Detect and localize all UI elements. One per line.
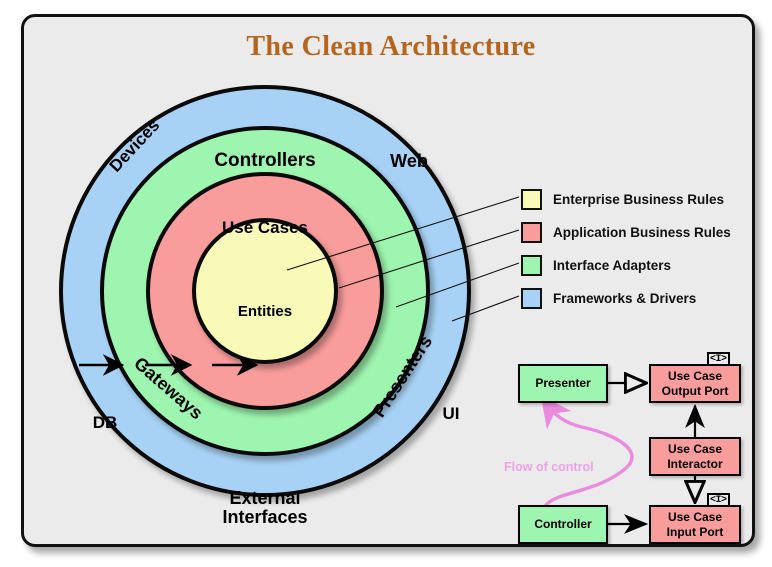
legend-item: Frameworks & Drivers (521, 282, 755, 315)
legend-label-interface-adapters: Interface Adapters (553, 258, 671, 273)
ring-label-external-interfaces-line1: External (175, 489, 355, 508)
legend-item: Enterprise Business Rules (521, 183, 755, 216)
legend-item: Interface Adapters (521, 249, 755, 282)
flow-box-controller-label: Controller (534, 517, 591, 531)
legend-swatch-interface-adapters (521, 255, 542, 276)
ring-label-ui: UI (424, 405, 478, 423)
flow-box-use-case-output-port: Use Case Output Port (649, 364, 741, 403)
output-port-line2: Output Port (662, 384, 729, 398)
ring-label-db: DB (78, 414, 132, 432)
flow-box-use-case-input-port-label: Use Case Input Port (667, 510, 724, 538)
legend-swatch-enterprise-business-rules (521, 189, 542, 210)
legend-label-application-business-rules: Application Business Rules (553, 225, 731, 240)
ring-label-external-interfaces: External Interfaces (175, 489, 355, 528)
ring-label-controllers: Controllers (174, 151, 356, 172)
page-title: The Clean Architecture (24, 31, 755, 63)
input-port-line2: Input Port (667, 525, 724, 539)
input-port-line1: Use Case (668, 510, 722, 524)
flow-of-control-label: Flow of control (504, 460, 594, 474)
flow-box-presenter: Presenter (518, 364, 608, 403)
legend-swatch-application-business-rules (521, 222, 542, 243)
legend: Enterprise Business Rules Application Bu… (521, 183, 755, 315)
flow-box-use-case-interactor-label: Use Case Interactor (667, 442, 722, 470)
flow-box-use-case-interactor: Use Case Interactor (649, 437, 741, 476)
legend-label-frameworks-and-drivers: Frameworks & Drivers (553, 291, 696, 306)
interactor-line1: Use Case (668, 442, 722, 456)
flow-of-control-diagram: <I> <I> Presenter Use Case Output Port U… (494, 342, 754, 547)
dependency-arrows (44, 117, 344, 547)
diagram-frame: The Clean Architecture Entities Use Case… (21, 14, 755, 547)
ring-label-entities: Entities (217, 304, 313, 320)
interactor-line2: Interactor (667, 457, 722, 471)
flow-box-use-case-output-port-label: Use Case Output Port (662, 369, 729, 397)
legend-swatch-frameworks-and-drivers (521, 288, 542, 309)
flow-box-use-case-input-port: Use Case Input Port (649, 505, 741, 544)
legend-label-enterprise-business-rules: Enterprise Business Rules (553, 192, 724, 207)
flow-box-controller: Controller (518, 505, 608, 544)
ring-label-use-cases: Use Cases (195, 219, 335, 237)
output-port-line1: Use Case (668, 369, 722, 383)
ring-label-external-interfaces-line2: Interfaces (175, 508, 355, 527)
architecture-rings: Entities Use Cases Controllers External … (34, 67, 494, 532)
flow-box-presenter-label: Presenter (535, 376, 590, 390)
ring-label-web: Web (374, 152, 444, 171)
legend-item: Application Business Rules (521, 216, 755, 249)
